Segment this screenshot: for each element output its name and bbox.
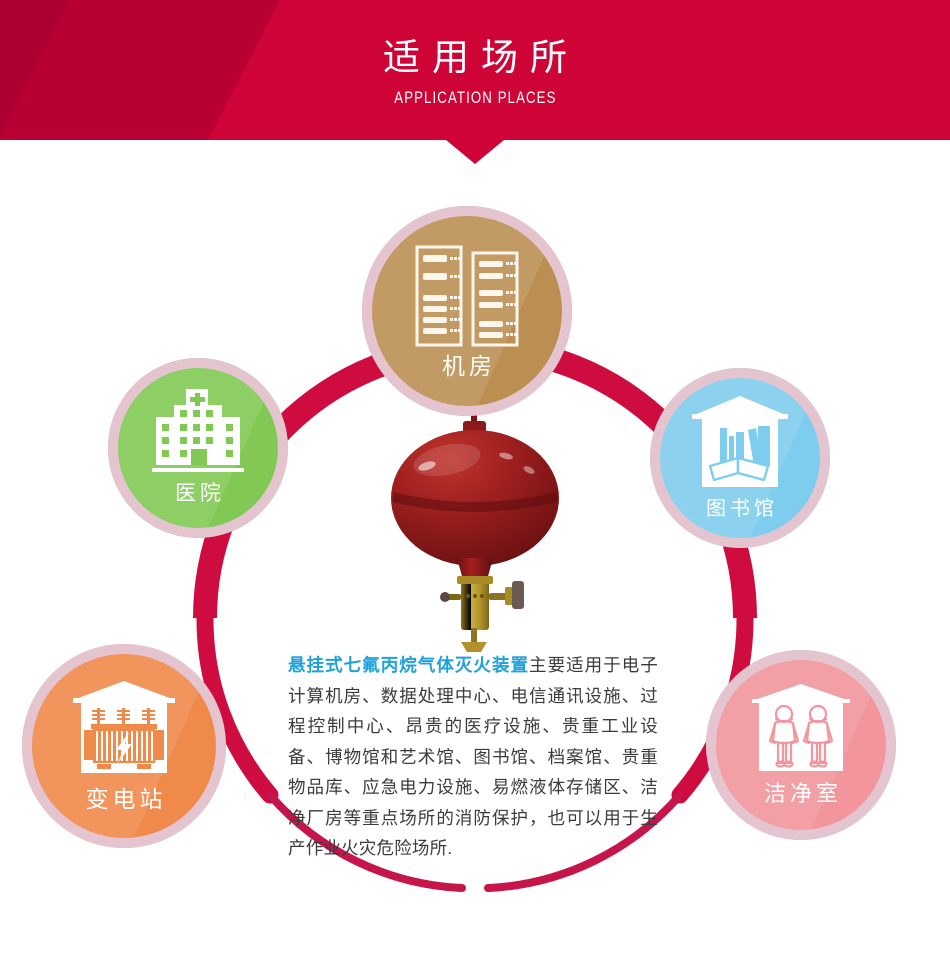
valve-port-a [466, 594, 470, 598]
header-banner: 适用场所 APPLICATION PLACES [0, 0, 950, 140]
node-label: 医院 [171, 481, 225, 507]
extinguisher-svg [383, 408, 568, 653]
node-cleanroom[interactable]: 洁净室 [706, 650, 896, 840]
spray-stem [471, 628, 477, 642]
node-substation[interactable]: 变电站 [22, 644, 226, 848]
product-image-extinguisher [383, 408, 568, 653]
page-subtitle: APPLICATION PLACES [394, 89, 556, 108]
node-label: 变电站 [82, 786, 167, 812]
gauge-neck [505, 587, 513, 605]
node-label: 机房 [438, 353, 496, 379]
product-name-highlight: 悬挂式七氟丙烷气体灭火装置 [288, 655, 529, 675]
valve-port-b [473, 594, 477, 598]
left-nozzle-cap [440, 592, 450, 602]
gauge-arm [489, 593, 507, 600]
node-hospital[interactable]: 医院 [108, 358, 288, 538]
cleanroom-workers-icon [750, 683, 852, 775]
hospital-building-icon [146, 389, 250, 475]
page-title: 适用场所 [371, 33, 579, 83]
node-server-room[interactable]: 机房 [362, 206, 572, 416]
node-label: 图书馆 [702, 496, 778, 522]
transformer-icon [71, 680, 177, 780]
node-label: 洁净室 [760, 781, 842, 807]
banner-notch-triangle [446, 140, 504, 164]
valve-port-c [480, 594, 484, 598]
description-paragraph: 悬挂式七氟丙烷气体灭火装置主要适用于电子计算机房、数据处理中心、电信通讯设施、过… [288, 650, 658, 864]
library-books-icon [690, 394, 790, 490]
banner-text-block: 适用场所 APPLICATION PLACES [0, 0, 950, 140]
description-text: 主要适用于电子计算机房、数据处理中心、电信通讯设施、过程控制中心、昂贵的医疗设施… [288, 655, 658, 858]
node-library[interactable]: 图书馆 [650, 368, 830, 548]
valve-top-flange [457, 576, 493, 584]
pressure-gauge [512, 581, 524, 609]
server-rack-icon [413, 243, 521, 349]
valve-body [461, 578, 489, 630]
